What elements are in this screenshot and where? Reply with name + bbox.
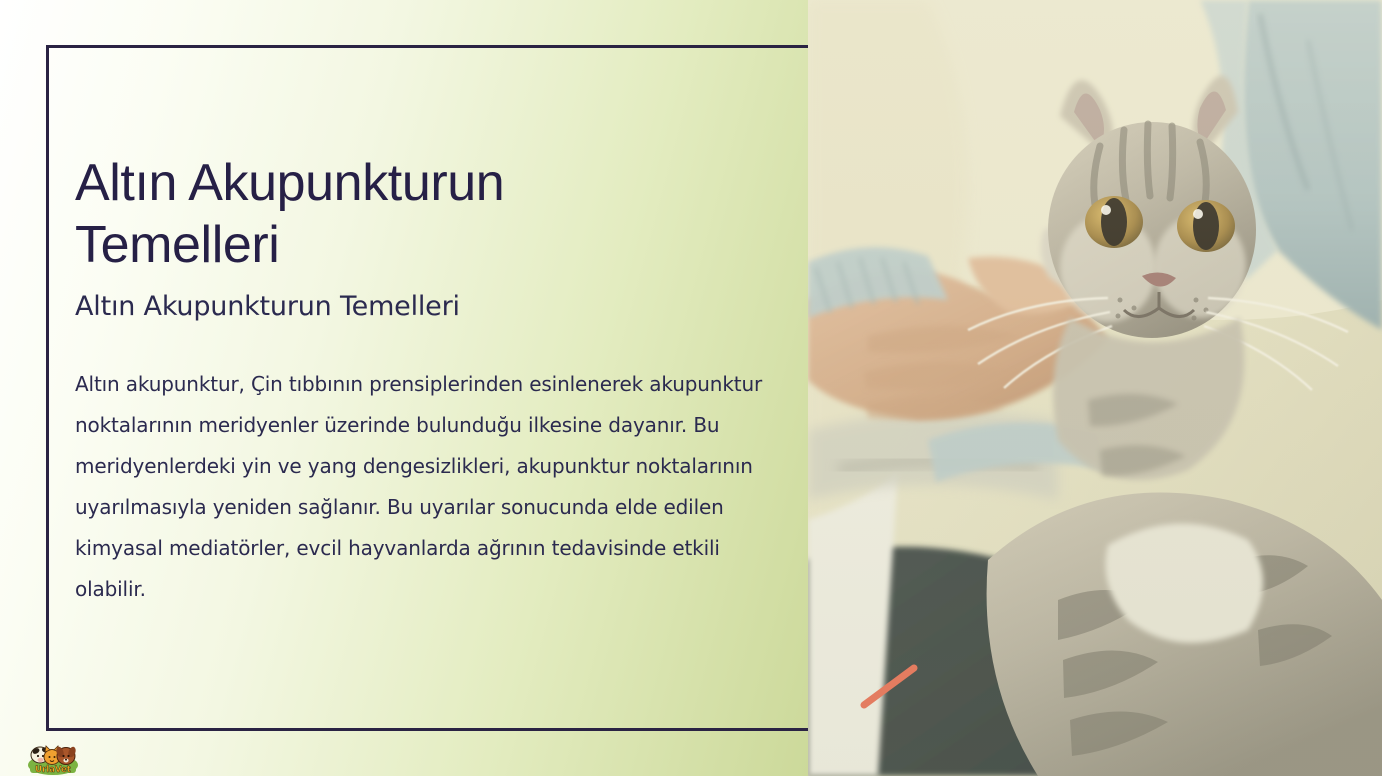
logo-wordmark: UrlaVet xyxy=(35,765,71,775)
text-block: Altın Akupunkturun Temelleri Altın Akupu… xyxy=(75,152,775,610)
slide-body-text: Altın akupunktur, Çin tıbbının prensiple… xyxy=(75,364,775,610)
slide-title: Altın Akupunkturun Temelleri xyxy=(75,152,775,276)
content-panel: Altın Akupunkturun Temelleri Altın Akupu… xyxy=(0,0,808,776)
cat-photograph xyxy=(808,0,1382,776)
slide-subtitle: Altın Akupunkturun Temelleri xyxy=(75,288,775,326)
presentation-slide: Altın Akupunkturun Temelleri Altın Akupu… xyxy=(0,0,1382,776)
photo-artwork xyxy=(808,0,1382,776)
cat-eye-left xyxy=(1085,196,1143,248)
cat-eye-right xyxy=(1177,200,1235,252)
urla-vet-logo: UrlaVet xyxy=(24,737,82,776)
logo-artwork-icon: UrlaVet xyxy=(24,737,82,776)
